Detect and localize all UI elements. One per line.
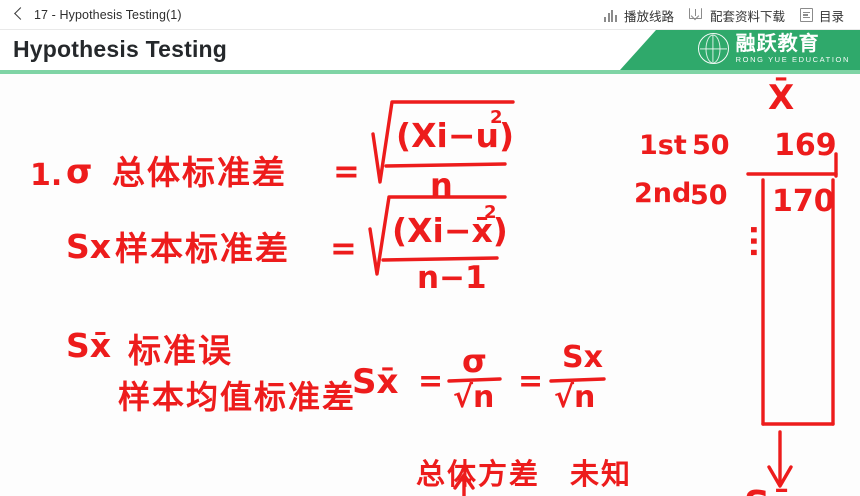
top-bar-actions: 播放线路 配套资料下载 目录 [604,0,844,30]
note-line2-equals: = [330,229,357,267]
mean-symbol: X̄ [768,78,794,118]
download-icon [689,8,704,22]
sample-row1-label: 1st [639,130,687,161]
brand-text: 融跃教育 RONG YUE EDUCATION [736,33,850,64]
chevron-left-icon[interactable] [14,6,25,24]
note-line2-denominator: n−1 [417,260,487,296]
formula3-denominator-2: √n [554,380,595,415]
note-line1-denominator: n [430,166,453,204]
note-line2-label: 样本标准差 [115,222,290,270]
catalog-icon [800,8,813,22]
brand-name-cn: 融跃教育 [736,33,850,53]
standard-error-symbol: Sx̄ [744,484,793,496]
catalog-label: 目录 [819,6,844,25]
annotation-population-variance: 总体方差 [416,451,540,493]
globe-icon [698,33,729,64]
note-line1-equals: = [333,152,360,190]
lecture-player-screen: 17 - Hypothesis Testing(1) 播放线路 配套资料下载 目… [0,0,860,496]
whiteboard: 1. σ 总体标准差 = (Xi−u) 2 n Sx 样本标准差 = (Xi−x… [0,74,860,496]
catalog-button[interactable]: 目录 [800,6,844,25]
value-list-item-3: ... [743,224,778,258]
slide-header: Hypothesis Testing 融跃教育 RONG YUE EDUCATI… [0,30,860,74]
annotation-unknown: 未知 [570,451,632,493]
materials-download-label: 配套资料下载 [710,6,785,25]
note-line1-power: 2 [490,107,503,128]
note-line1-number: 1. [30,158,62,193]
formula3-equals-2: = [518,364,543,399]
note-line3-label: 标准误 [128,324,233,372]
bar-chart-icon [604,9,618,22]
formula3-equals-1: = [418,364,443,399]
top-bar-left: 17 - Hypothesis Testing(1) [14,0,182,30]
note-line2-power: 2 [484,202,497,223]
note-line1-symbol: σ [66,152,92,192]
formula3-numerator-1: σ [462,342,487,380]
note-line3-sublabel: 样本均值标准差 [118,372,356,418]
slide-title: Hypothesis Testing [13,36,227,63]
playback-route-button[interactable]: 播放线路 [604,6,674,25]
top-bar: 17 - Hypothesis Testing(1) 播放线路 配套资料下载 目… [0,0,860,30]
lesson-title: 17 - Hypothesis Testing(1) [34,8,182,22]
value-list-item-2: 170 [772,184,835,219]
sample-row2-value: 50 [690,180,728,211]
materials-download-button[interactable]: 配套资料下载 [689,6,785,25]
playback-route-label: 播放线路 [624,6,674,25]
formula3-denominator-1: √n [453,380,494,415]
sample-row2-label: 2nd [634,178,691,209]
note-line3-symbol: Sx̄ [66,326,111,365]
value-list-item-1: 169 [774,128,837,163]
brand-logo: 融跃教育 RONG YUE EDUCATION [698,33,850,64]
note-line1-label: 总体标准差 [112,146,287,194]
formula3-numerator-2: Sx [562,340,603,375]
note-line2-symbol: Sx [66,227,111,266]
formula3-lhs: Sx̄ [352,362,398,402]
brand-name-en: RONG YUE EDUCATION [736,56,850,64]
sample-row1-value: 50 [692,130,730,161]
